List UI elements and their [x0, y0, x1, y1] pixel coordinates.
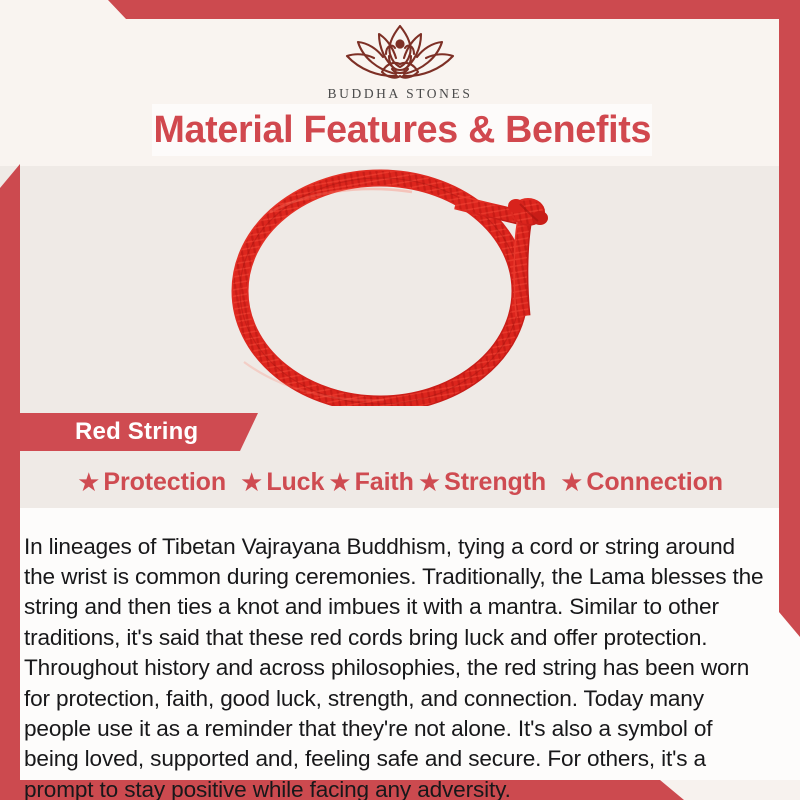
product-name-ribbon: Red String: [20, 413, 258, 451]
star-icon: ★: [560, 469, 583, 495]
infographic-card: BUDDHA STONES Material Features & Benefi…: [0, 0, 800, 800]
star-icon: ★: [328, 469, 351, 495]
red-string-bracelet-illustration: [20, 166, 780, 406]
brand-logo: BUDDHA STONES: [0, 20, 800, 102]
product-name: Red String: [75, 418, 198, 446]
decor-left-red-strip: [0, 164, 20, 780]
benefit-item-strength: ★ Strength: [418, 468, 546, 497]
benefit-label: Faith: [355, 468, 414, 497]
benefit-item-protection: ★ Protection: [77, 468, 226, 497]
benefit-label: Luck: [266, 468, 324, 497]
benefit-label: Strength: [444, 468, 546, 497]
benefit-label: Connection: [586, 468, 723, 497]
lotus-meditation-figure-icon: [334, 20, 466, 84]
page-title: Material Features & Benefits: [153, 109, 651, 152]
brand-name: BUDDHA STONES: [0, 86, 800, 102]
star-icon: ★: [240, 469, 263, 495]
star-icon: ★: [418, 469, 441, 495]
benefit-item-luck: ★ Luck: [240, 468, 324, 497]
benefits-row: ★ Protection ★ Luck ★ Faith ★ Strength ★…: [20, 464, 780, 500]
description-text: In lineages of Tibetan Vajrayana Buddhis…: [24, 532, 772, 800]
title-band: Material Features & Benefits: [152, 104, 652, 156]
benefit-item-connection: ★ Connection: [560, 468, 723, 497]
star-icon: ★: [77, 469, 100, 495]
product-image: [20, 166, 780, 406]
benefit-label: Protection: [103, 468, 226, 497]
benefit-item-faith: ★ Faith: [328, 468, 414, 497]
